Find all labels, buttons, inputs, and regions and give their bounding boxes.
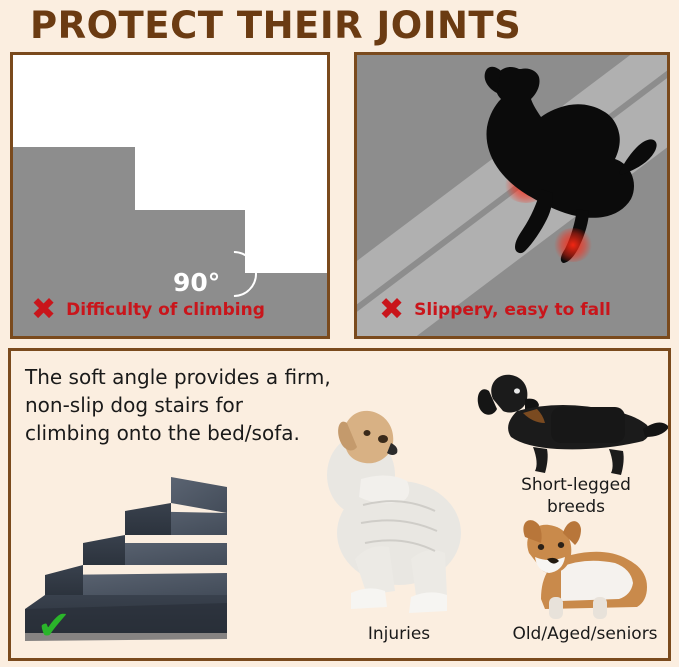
dog-silhouette-icon — [445, 63, 660, 263]
caption-old-aged-seniors: Old/Aged/seniors — [489, 623, 671, 645]
caption-text: Difficulty of climbing — [66, 300, 265, 320]
caption-difficulty-of-climbing: ✖ Difficulty of climbing — [31, 295, 265, 325]
check-icon: ✔ — [37, 606, 71, 646]
product-benefit-panel: The soft angle provides a firm, non-slip… — [8, 348, 671, 661]
slippery-panel: ✖ Slippery, easy to fall — [354, 52, 670, 339]
photo-injured-dog — [299, 383, 489, 621]
photo-corgi — [501, 511, 666, 623]
caption-line-1: Short-legged — [491, 474, 661, 496]
photo-dachshund — [463, 359, 671, 477]
difficulty-climbing-panel: 90° ✖ Difficulty of climbing — [10, 52, 330, 339]
page-title: PROTECT THEIR JOINTS — [30, 4, 650, 47]
caption-text: Slippery, easy to fall — [414, 300, 611, 320]
joint-pain-glow-rear — [553, 228, 593, 262]
product-infographic: PROTECT THEIR JOINTS 90° ✖ Difficulty of… — [0, 0, 679, 667]
caption-injuries: Injuries — [329, 623, 469, 645]
angle-label: 90° — [173, 268, 220, 297]
cross-icon: ✖ — [379, 295, 404, 325]
stairs-illustration: 90° — [13, 55, 327, 336]
cross-icon: ✖ — [31, 295, 56, 325]
caption-slippery-easy-to-fall: ✖ Slippery, easy to fall — [379, 295, 611, 325]
